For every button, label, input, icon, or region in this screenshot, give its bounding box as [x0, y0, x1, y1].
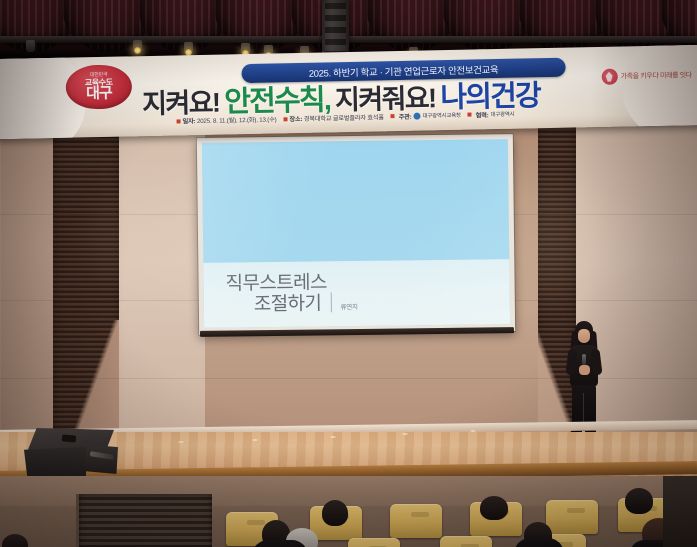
speaker-handle — [62, 434, 77, 442]
date-value: 2025. 8. 11.(월), 12.(화), 13.(수) — [197, 116, 277, 125]
bullet-icon — [391, 114, 395, 118]
banner-host: 주관: 대구광역시교육청 — [391, 110, 461, 120]
audience-head — [480, 496, 508, 520]
place-label: 장소: — [289, 115, 302, 122]
slide-subtitle-row: 조절하기 류연지 — [254, 292, 358, 315]
auditorium-photo: 직무스트레스 조절하기 류연지 대한민국 교육수도 대구 2025. 하반기 학… — [0, 0, 697, 547]
projection-screen: 직무스트레스 조절하기 류연지 — [197, 134, 515, 335]
house-side-panel — [663, 476, 697, 547]
stage-light — [133, 40, 142, 52]
floor-light-reflection — [178, 441, 184, 443]
slide-title-line2: 조절하기 — [254, 295, 322, 316]
date-label: 일자: — [182, 118, 195, 125]
slide-title-block: 직무스트레스 조절하기 류연지 — [203, 259, 510, 327]
wall-vent-grille — [76, 494, 212, 547]
floor-light-reflection — [252, 439, 258, 441]
person-face — [578, 329, 590, 343]
coop-value: 대구광역시 — [490, 110, 514, 118]
floor-light-reflection — [330, 436, 336, 438]
stage-light — [26, 40, 35, 52]
audience-shoulders — [252, 540, 308, 547]
coop-label: 협력: — [476, 110, 489, 119]
slide-divider — [330, 292, 331, 312]
floor-light-reflection — [402, 433, 408, 435]
stage-light — [184, 42, 193, 54]
audience-seat — [440, 536, 492, 547]
event-banner: 대한민국 교육수도 대구 2025. 하반기 학교 · 기관 연업근로자 안전보… — [0, 45, 697, 139]
person-hands — [579, 365, 590, 375]
slide-title-line1: 직무스트레스 — [225, 274, 327, 295]
audience-head — [2, 534, 28, 547]
audience-head — [322, 500, 348, 526]
audience-area — [0, 476, 697, 547]
bullet-icon — [283, 117, 287, 121]
place-value: 경북대학교 글로벌플라자 효석홀 — [304, 114, 384, 123]
family-mark-icon — [602, 69, 618, 85]
floor-light-reflection — [470, 430, 476, 432]
audience-seat — [546, 500, 598, 534]
slide-presenter-name: 류연지 — [340, 301, 357, 311]
logo-line-3: 대구 — [86, 86, 112, 102]
slogan-text: 가족을 키우다 미래를 잇다 — [621, 70, 692, 81]
bullet-icon — [177, 119, 181, 123]
daegu-education-logo: 대한민국 교육수도 대구 — [65, 64, 132, 109]
presentation-slide: 직무스트레스 조절하기 류연지 — [202, 139, 510, 328]
host-value: 대구광역시교육청 — [423, 111, 461, 120]
host-emblem-icon — [414, 112, 421, 119]
banner-date: 일자: 2025. 8. 11.(월), 12.(화), 13.(수) — [176, 114, 276, 125]
logo-line-1: 대한민국 — [90, 73, 108, 78]
audience-seat — [390, 504, 442, 538]
person-arm-right — [590, 349, 602, 376]
banner-coop: 협력: 대구광역시 — [468, 109, 515, 119]
audience-head — [625, 488, 653, 514]
slogan-logo: 가족을 키우다 미래를 잇다 — [602, 67, 692, 85]
bullet-icon — [468, 113, 472, 117]
banner-place: 장소: 경북대학교 글로벌플라자 효석홀 — [283, 112, 383, 123]
audience-seat — [348, 538, 400, 547]
host-label: 주관: — [399, 111, 412, 120]
